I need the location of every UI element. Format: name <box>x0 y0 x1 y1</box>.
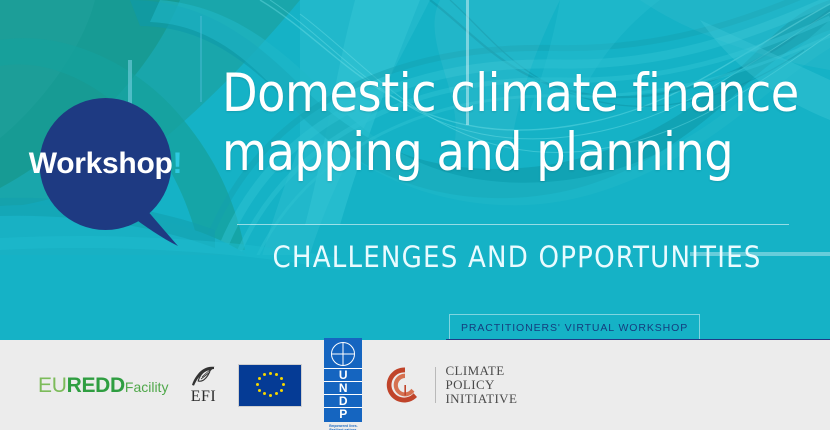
cpi-spiral-icon <box>384 364 426 406</box>
leaf-icon <box>190 365 216 387</box>
undp-letter-u: U <box>324 368 362 381</box>
cpi-line-2: POLICY <box>445 378 517 392</box>
partner-logo-strip: EUREDD Facility EFI <box>0 340 830 430</box>
title-line-2: mapping and planning <box>222 123 780 182</box>
cpi-divider <box>435 367 436 403</box>
logo-eu-redd-facility: EUREDD Facility <box>38 375 168 396</box>
workshop-type-label: PRACTITIONERS' VIRTUAL WORKSHOP <box>461 322 688 334</box>
undp-letter-p: P <box>324 407 362 420</box>
workshop-badge-punctuation: ! <box>173 147 183 181</box>
logo-climate-policy-initiative: CLIMATE POLICY INITIATIVE <box>384 364 517 406</box>
page-subtitle: CHALLENGES AND OPPORTUNITIES <box>237 240 797 274</box>
workshop-badge-label: Workshop! <box>22 98 189 230</box>
title-divider <box>237 224 789 225</box>
eu-redd-eu-text: EU <box>38 374 67 397</box>
logo-efi: EFI <box>190 365 216 406</box>
page-title: Domestic climate finance mapping and pla… <box>222 64 797 182</box>
title-line-1: Domestic climate finance <box>222 64 780 123</box>
undp-tagline: Empowered lives. Resilient nations. <box>324 424 362 430</box>
eu-redd-redd-text: REDD <box>67 374 125 397</box>
cpi-line-3: INITIATIVE <box>445 392 517 406</box>
efi-text: EFI <box>190 388 216 406</box>
un-globe-icon <box>331 342 355 366</box>
logo-european-union <box>238 364 302 407</box>
workshop-badge: Workshop! <box>22 98 212 248</box>
workshop-type-tab: PRACTITIONERS' VIRTUAL WORKSHOP <box>449 314 700 340</box>
cpi-line-1: CLIMATE <box>445 364 517 378</box>
cpi-wordmark: CLIMATE POLICY INITIATIVE <box>445 364 517 406</box>
eu-redd-facility-text: Facility <box>125 380 169 394</box>
workshop-badge-text: Workshop <box>29 147 173 181</box>
undp-letter-n: N <box>324 381 362 394</box>
logo-undp: U N D P Empowered lives. Resilient natio… <box>324 338 362 430</box>
workshop-banner: Workshop! Domestic climate finance mappi… <box>0 0 830 430</box>
undp-letter-d: D <box>324 394 362 407</box>
